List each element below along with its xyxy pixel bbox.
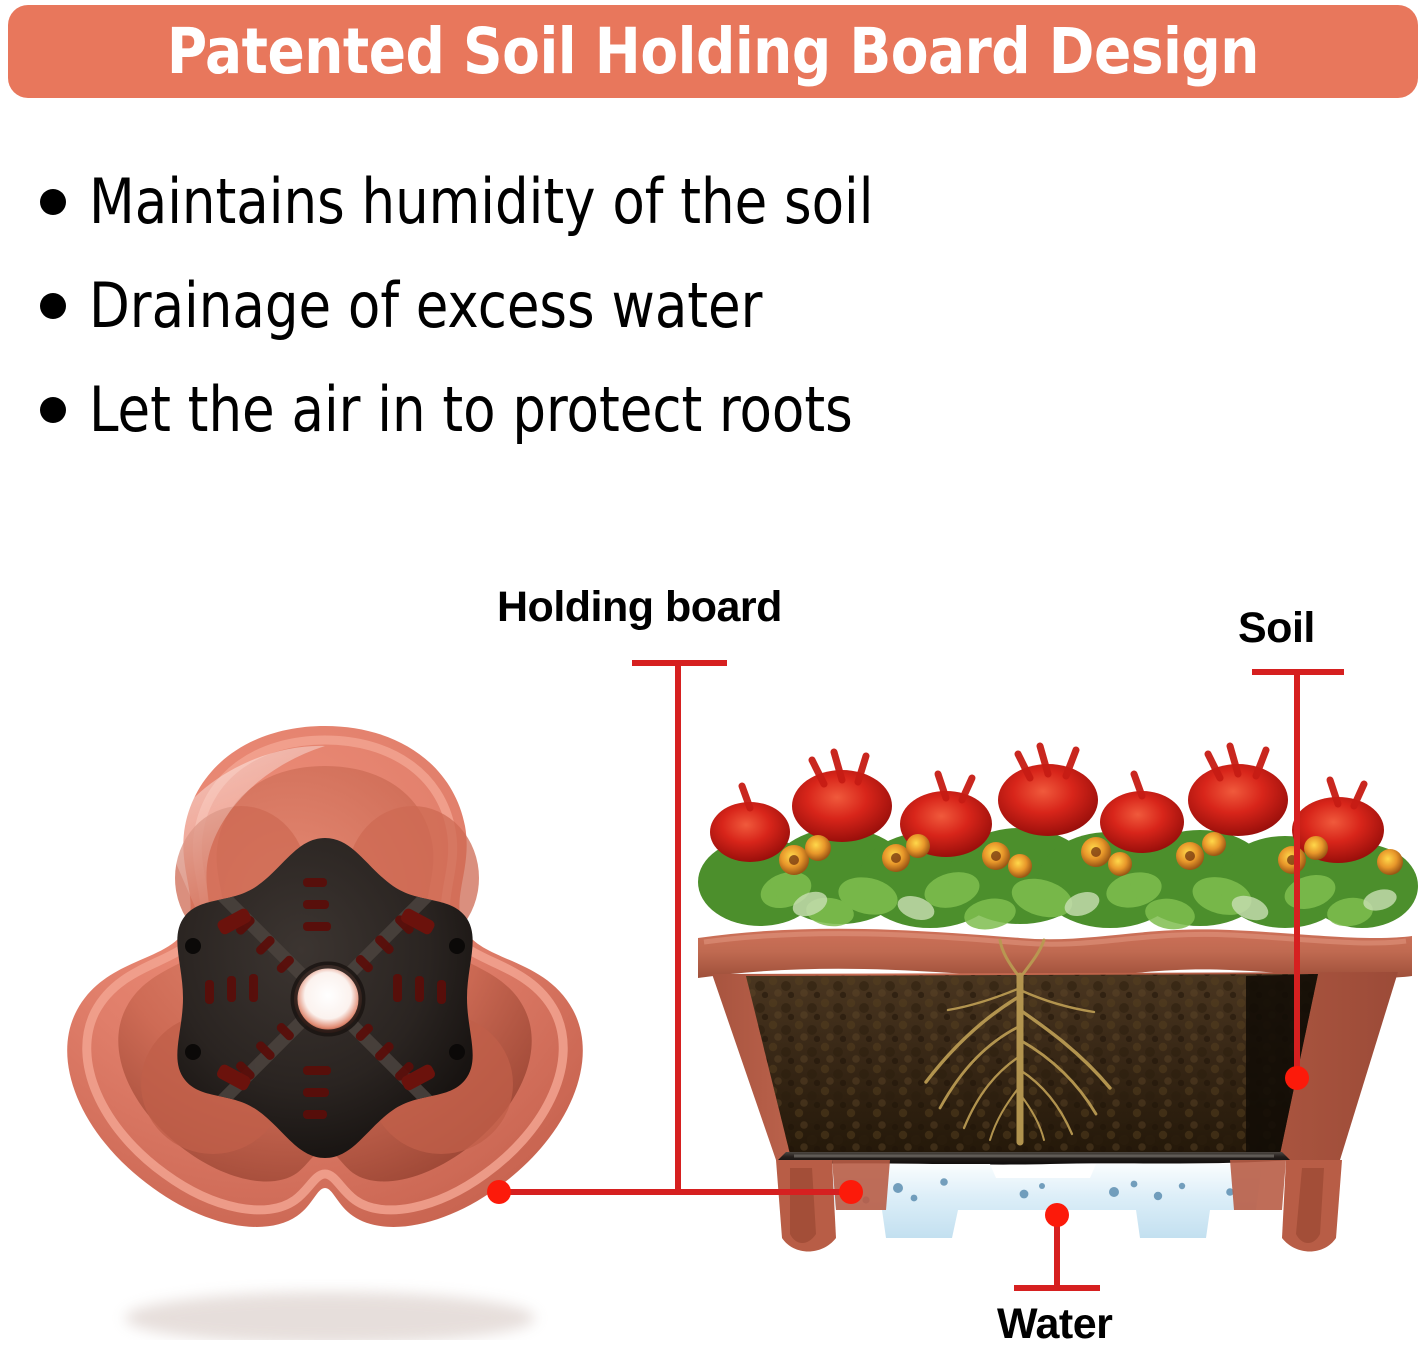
planter-top-view-image — [45, 718, 605, 1340]
bullet-icon — [40, 189, 66, 215]
water-reservoir — [828, 1164, 1262, 1238]
leader-vertical-holding-board — [675, 660, 681, 1194]
header-banner: Patented Soil Holding Board Design — [8, 5, 1418, 98]
list-item: Maintains humidity of the soil — [0, 150, 1100, 254]
leader-tbar-soil — [1252, 669, 1344, 675]
feature-text: Drainage of excess water — [89, 275, 762, 337]
bullet-icon — [40, 397, 66, 423]
planter-cross-section-image — [690, 690, 1420, 1300]
feature-text: Maintains humidity of the soil — [89, 171, 873, 233]
bullet-icon — [40, 293, 66, 319]
feature-text: Let the air in to protect roots — [89, 379, 853, 441]
callout-label-holding-board: Holding board — [497, 583, 782, 632]
leader-tbar-holding-board — [632, 660, 727, 666]
plant-foliage — [698, 746, 1418, 933]
planter-shadow — [125, 1292, 535, 1340]
list-item: Drainage of excess water — [0, 254, 1100, 358]
callout-label-soil: Soil — [1238, 604, 1315, 653]
list-item: Let the air in to protect roots — [0, 358, 1100, 462]
callout-label-water: Water — [997, 1300, 1112, 1349]
feature-list: Maintains humidity of the soil Drainage … — [0, 150, 1100, 462]
page-title: Patented Soil Holding Board Design — [167, 20, 1259, 83]
